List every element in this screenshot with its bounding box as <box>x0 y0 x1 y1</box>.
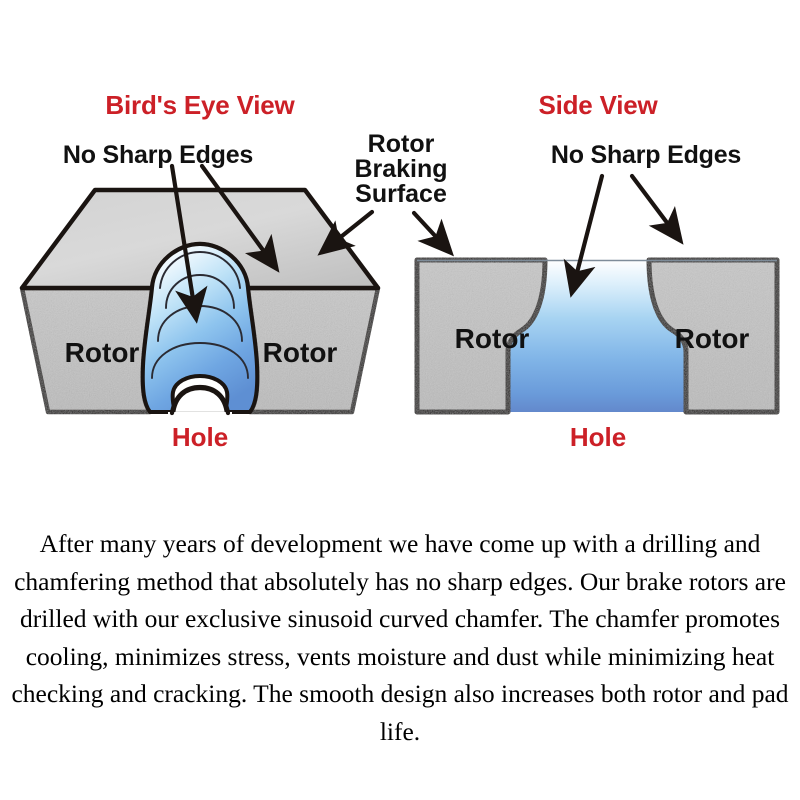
birds-eye-view-figure <box>22 190 378 418</box>
label-hole-birds-eye: Hole <box>172 422 228 452</box>
label-rotor-braking-surface-line-3: Surface <box>355 180 447 208</box>
label-rotor-right-birds-eye: Rotor <box>263 337 338 368</box>
arrow-no-sharp-edges-right-b <box>632 176 680 240</box>
label-rotor-braking-surface-line-2: Braking <box>354 155 447 183</box>
arrow-braking-surface-to-right-figure <box>414 213 450 252</box>
hole-notch-mask <box>168 412 232 418</box>
label-rotor-left-side-view: Rotor <box>455 323 530 354</box>
diagram-page: Bird's Eye View No Sharp Edges Rotor Bra… <box>0 0 800 800</box>
label-no-sharp-edges-right: No Sharp Edges <box>551 141 741 169</box>
label-rotor-braking-surface-line-1: Rotor <box>368 130 435 158</box>
description-paragraph: After many years of development we have … <box>8 525 792 750</box>
label-rotor-left-birds-eye: Rotor <box>65 337 140 368</box>
label-rotor-braking-surface: Rotor Braking Surface <box>354 130 447 208</box>
side-view-title: Side View <box>538 90 658 120</box>
description-paragraph-block: After many years of development we have … <box>0 525 800 750</box>
label-no-sharp-edges-left: No Sharp Edges <box>63 141 253 169</box>
birds-eye-view-title: Bird's Eye View <box>105 90 295 120</box>
label-rotor-right-side-view: Rotor <box>675 323 750 354</box>
label-hole-side-view: Hole <box>570 422 626 452</box>
